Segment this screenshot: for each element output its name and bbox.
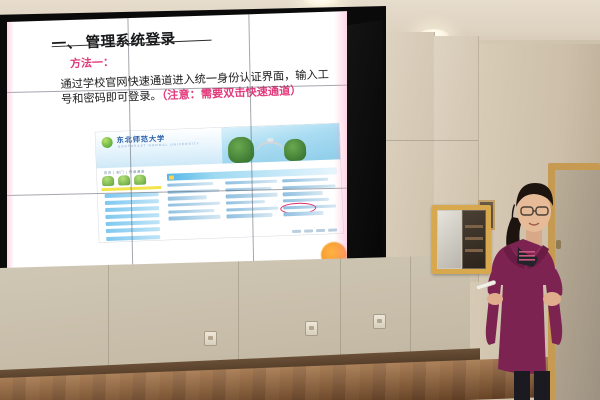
- sidebar-item-2[interactable]: [105, 206, 159, 212]
- sidebar-item-1[interactable]: [105, 199, 159, 205]
- link-column-3: [282, 177, 338, 219]
- sidebar-item-3[interactable]: [105, 213, 159, 219]
- presentation-slide: 一、管理系统登录 方法一： 通过学校官网快速通道进入统一身份认证界面，输入工号和…: [7, 10, 347, 296]
- scene-root: 一、管理系统登录 方法一： 通过学校官网快速通道进入统一身份认证界面，输入工号和…: [0, 0, 600, 400]
- tree-shape: [228, 136, 255, 163]
- slide-body: 通过学校官网快速通道进入统一身份认证界面，输入工号和密码即可登录。（注意：需要双…: [60, 67, 331, 107]
- wall-outlet-3[interactable]: [374, 315, 385, 328]
- link-item[interactable]: [168, 202, 221, 207]
- wall-panel-seam: [382, 140, 478, 141]
- wall-panel-a: [382, 32, 435, 282]
- link-columns: [167, 177, 338, 223]
- link-item[interactable]: [167, 188, 220, 193]
- browser-screenshot: 东北师范大学 NORTHEAST NORMAL UNIVERSITY 首页 | …: [95, 123, 343, 242]
- link-item[interactable]: [226, 206, 279, 211]
- link-item[interactable]: [226, 200, 265, 205]
- link-item[interactable]: [225, 180, 278, 185]
- wall-outlet-1[interactable]: [205, 332, 216, 345]
- site-body: [97, 167, 343, 242]
- site-sidebar-nav[interactable]: [97, 174, 167, 243]
- wall-outlet-2[interactable]: [306, 322, 317, 335]
- link-item[interactable]: [168, 209, 214, 214]
- link-item[interactable]: [167, 182, 213, 187]
- video-wall[interactable]: 一、管理系统登录 方法一： 通过学校官网快速通道进入统一身份认证界面，输入工号和…: [0, 6, 386, 298]
- sidebar-item-0[interactable]: [105, 192, 159, 198]
- slide-title-number: 一、: [51, 35, 82, 52]
- link-column-1: [167, 182, 223, 224]
- sidebar-item-4[interactable]: [106, 220, 160, 226]
- leaf-icon-3: [134, 175, 146, 185]
- slide-note: （注意：需要双击快速通道）: [161, 84, 301, 102]
- tree-shape-2: [284, 139, 307, 162]
- screen-edge-tint-right: [334, 10, 347, 296]
- campus-gate-shape: [255, 140, 286, 160]
- link-item[interactable]: [284, 204, 337, 209]
- link-item[interactable]: [282, 178, 328, 183]
- link-item[interactable]: [168, 196, 207, 201]
- slide-title: 一、管理系统登录: [51, 27, 176, 53]
- site-header: 东北师范大学 NORTHEAST NORMAL UNIVERSITY: [95, 123, 340, 168]
- sidebar-item-5[interactable]: [106, 228, 160, 234]
- link-column-2: [225, 180, 281, 222]
- link-item[interactable]: [283, 191, 322, 196]
- footer-link[interactable]: [292, 230, 301, 233]
- link-item[interactable]: [283, 198, 329, 203]
- video-wall-screen[interactable]: 一、管理系统登录 方法一： 通过学校官网快速通道进入统一身份认证界面，输入工号和…: [7, 10, 347, 296]
- sidebar-item-7[interactable]: [106, 242, 160, 243]
- link-item[interactable]: [284, 211, 323, 216]
- link-item[interactable]: [225, 187, 271, 192]
- link-item[interactable]: [283, 184, 336, 189]
- footer-links: [292, 229, 337, 233]
- sidebar-item-6[interactable]: [106, 235, 160, 241]
- footer-link[interactable]: [304, 230, 313, 233]
- unlit-panel-column: [347, 20, 383, 288]
- leaf-icon-2: [118, 175, 130, 185]
- window-pane-left: [437, 210, 462, 269]
- footer-link[interactable]: [316, 229, 325, 232]
- link-item[interactable]: [168, 215, 221, 220]
- leaf-icon-1: [102, 176, 114, 186]
- site-main-content: [165, 167, 343, 240]
- slide-subtitle: 方法一：: [70, 54, 115, 72]
- university-logo-icon: [101, 137, 112, 148]
- link-item[interactable]: [225, 193, 278, 198]
- link-item[interactable]: [226, 213, 272, 218]
- site-banner-photo: [221, 123, 340, 163]
- screen-edge-tint-left: [7, 10, 14, 296]
- presenter: [468, 175, 600, 400]
